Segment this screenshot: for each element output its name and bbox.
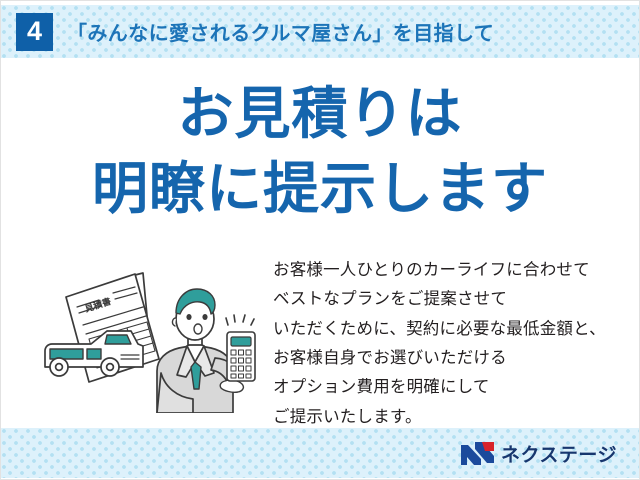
body-line-5: オプション費用を明確にして [273,373,625,402]
brand-logo: ネクステージ [461,440,617,467]
body-line-4: お客様自身でお選びいただける [273,344,625,373]
body-line-1: お客様一人ひとりのカーライフに合わせて [273,256,625,285]
advertisement-canvas: 4 「みんなに愛されるクルマ屋さん」を目指して お見積りは 明瞭に提示します [0,0,640,480]
footer-band: ネクステージ [1,428,639,478]
illustration-salesman: 見積書 [39,263,271,413]
body-paragraph: お客様一人ひとりのカーライフに合わせて ベストなプランをご提案させて いただくた… [273,256,625,432]
headline-line-1: お見積りは [1,79,639,150]
page-headline: お見積りは 明瞭に提示します [1,79,639,224]
body-line-3: いただくために、契約に必要な最低金額と、 [273,315,625,344]
headline-line-2: 明瞭に提示します [1,154,639,225]
header-title: 「みんなに愛されるクルマ屋さん」を目指して [67,17,494,46]
step-number-badge: 4 [16,13,53,51]
body-line-2: ベストなプランをご提案させて [273,285,625,314]
nextage-n-logo-icon [461,442,494,465]
brand-name: ネクステージ [501,440,617,467]
header-band: 4 「みんなに愛されるクルマ屋さん」を目指して [1,5,639,58]
